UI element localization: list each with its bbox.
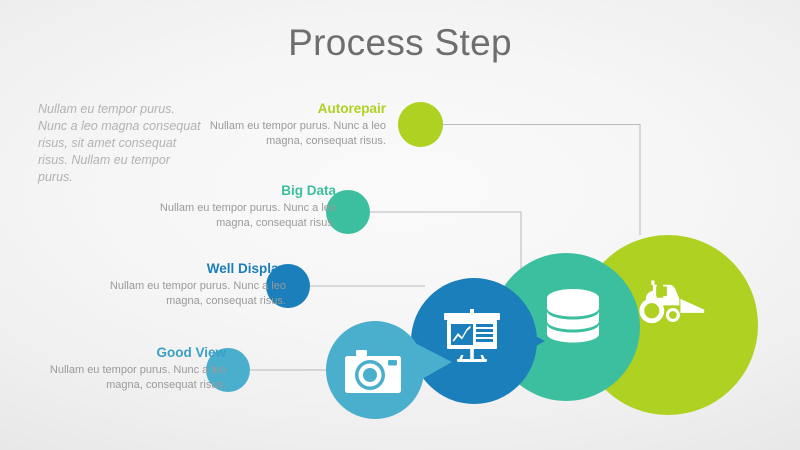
step-title-autorepair: Autorepair	[186, 101, 386, 116]
camera-icon	[345, 350, 401, 393]
step-text-good-view: Good View Nullam eu tempor purus. Nunc a…	[26, 345, 226, 392]
step-body-good-view: Nullam eu tempor purus. Nunc a leo magna…	[26, 363, 226, 392]
node-autorepair[interactable]	[398, 102, 443, 147]
step-text-well-display: Well Display Nullam eu tempor purus. Nun…	[86, 261, 286, 308]
step-text-autorepair: Autorepair Nullam eu tempor purus. Nunc …	[186, 101, 386, 148]
step-title-good-view: Good View	[26, 345, 226, 360]
step-text-big-data: Big Data Nullam eu tempor purus. Nunc a …	[136, 183, 336, 230]
step-title-big-data: Big Data	[136, 183, 336, 198]
step-title-well-display: Well Display	[86, 261, 286, 276]
slide-canvas: Process Step Nullam eu tempor purus. Nun…	[0, 0, 800, 450]
step-body-big-data: Nullam eu tempor purus. Nunc a leo magna…	[136, 201, 336, 230]
step-body-autorepair: Nullam eu tempor purus. Nunc a leo magna…	[186, 119, 386, 148]
step-body-well-display: Nullam eu tempor purus. Nunc a leo magna…	[86, 279, 286, 308]
